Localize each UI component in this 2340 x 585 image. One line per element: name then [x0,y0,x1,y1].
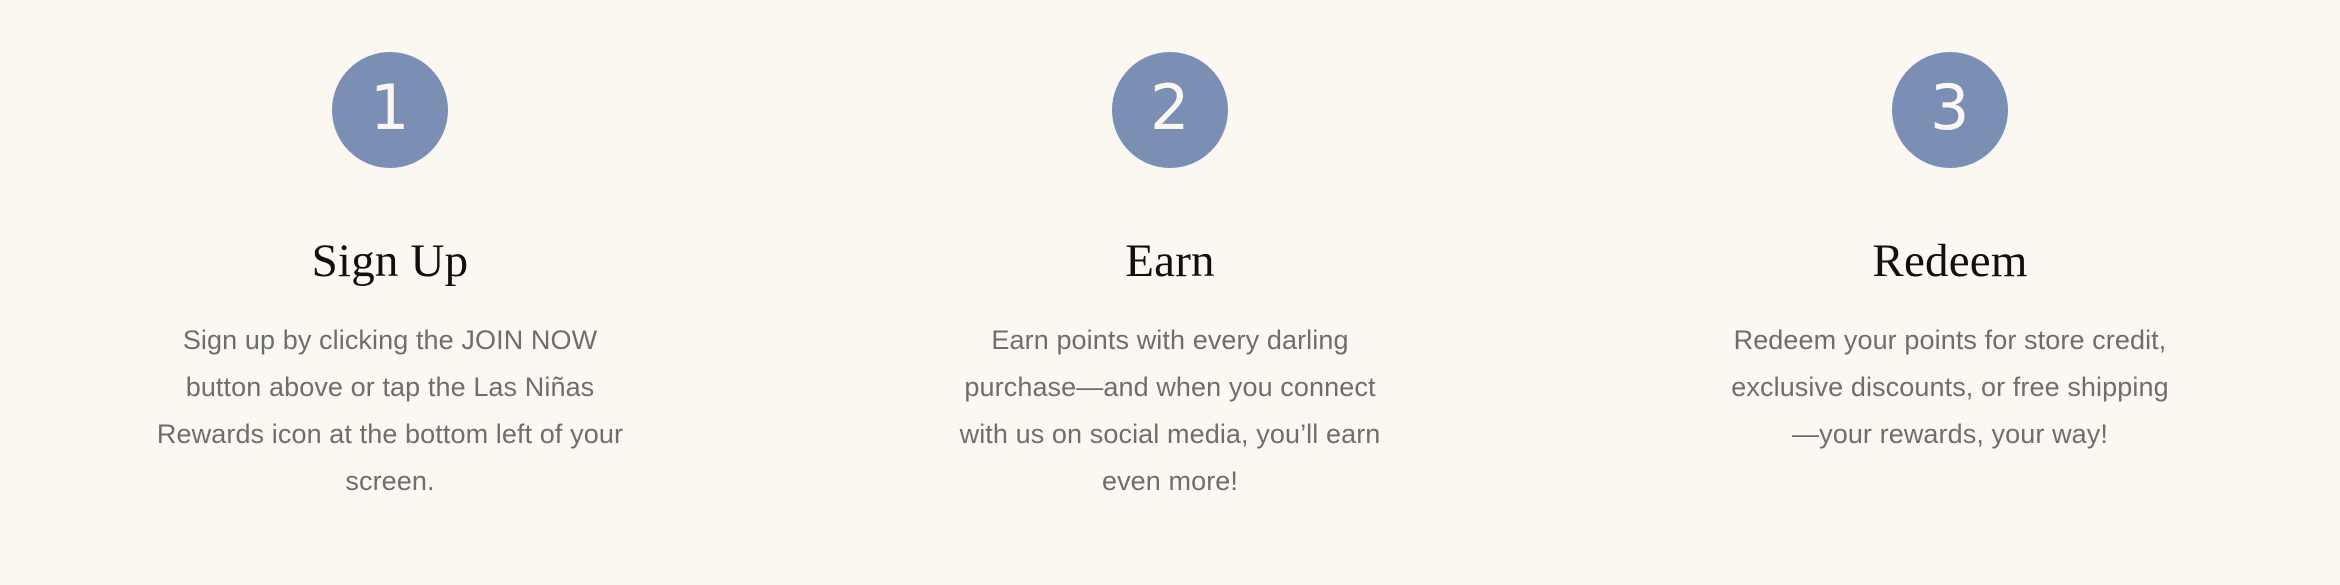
step-number-badge-3: 3 [1892,52,2008,168]
step-card-3: 3 Redeem Redeem your points for store cr… [1560,0,2340,585]
step-card-2: 2 Earn Earn points with every darling pu… [780,0,1560,585]
step-number-badge-2: 2 [1112,52,1228,168]
step-description-1: Sign up by clicking the JOIN NOW button … [152,317,628,505]
step-title-2: Earn [1125,238,1215,285]
step-description-3: Redeem your points for store credit, exc… [1726,317,2174,458]
step-number-1: 1 [370,77,410,139]
step-description-2: Earn points with every darling purchase—… [944,317,1396,505]
step-number-3: 3 [1930,77,1970,139]
step-card-1: 1 Sign Up Sign up by clicking the JOIN N… [0,0,780,585]
step-number-2: 2 [1150,77,1190,139]
step-title-1: Sign Up [312,238,469,285]
step-number-badge-1: 1 [332,52,448,168]
step-title-3: Redeem [1872,238,2027,285]
how-it-works-steps-section: 1 Sign Up Sign up by clicking the JOIN N… [0,0,2340,585]
